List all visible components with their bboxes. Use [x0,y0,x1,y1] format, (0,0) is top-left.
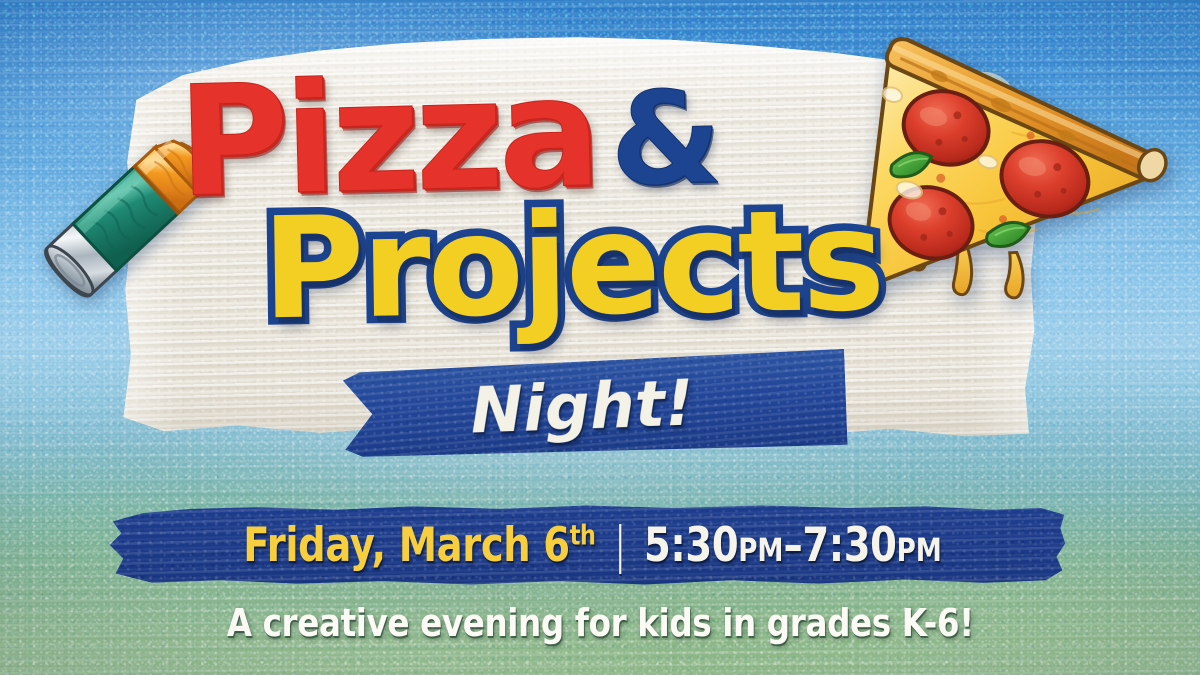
date-time-row: Friday, March 6th | 5:30PM–7:30PM [104,503,1070,587]
time-dash: – [784,518,803,573]
event-date: Friday, March 6th [244,518,596,573]
pizza-slice-icon [836,12,1200,312]
event-date-ordinal: th [570,520,596,551]
time-start-ampm: PM [739,531,784,569]
tagline-text: A creative evening for kids in grades K-… [227,601,974,645]
tagline: A creative evening for kids in grades K-… [0,601,1200,645]
time-end: 7:30 [803,518,897,573]
poster-canvas: Pizza& Projects Night! Friday, March 6th… [0,0,1200,675]
time-start: 5:30 [644,518,738,573]
time-end-ampm: PM [897,531,942,569]
event-date-text: Friday, March 6 [244,518,570,573]
event-time: 5:30PM–7:30PM [644,518,942,573]
date-time-separator: | [616,516,625,574]
glue-stick-icon [24,112,224,327]
